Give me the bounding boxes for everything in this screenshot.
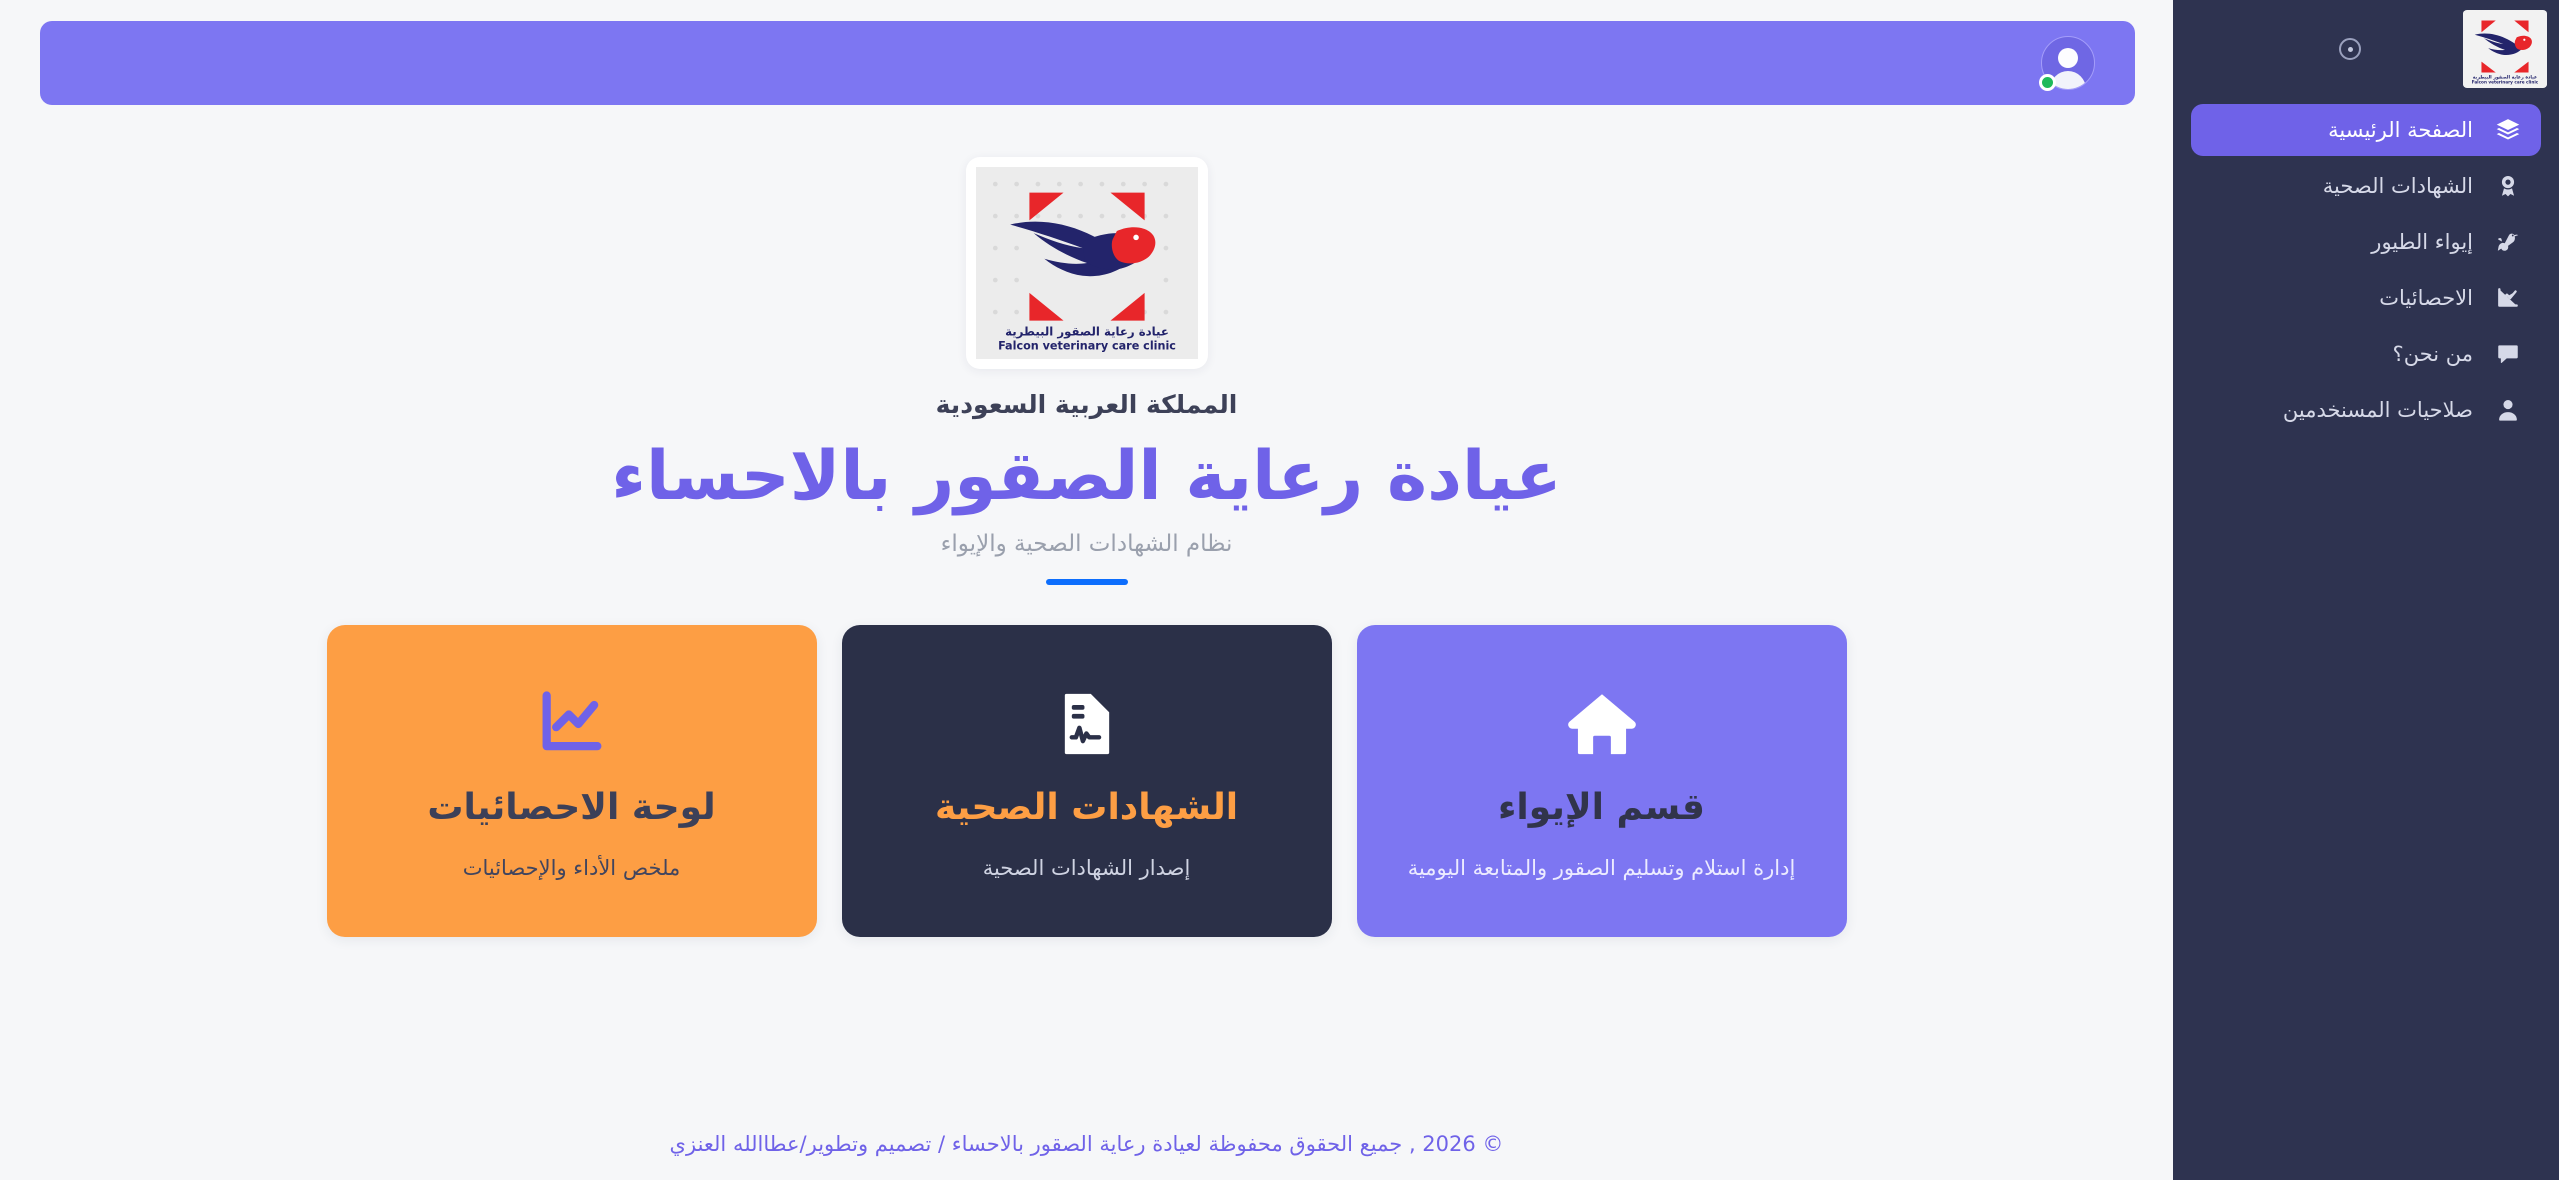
card-shelter-department[interactable]: قسم الإيواء إدارة استلام وتسليم الصقور و… (1357, 625, 1847, 937)
page-subtitle: نظام الشهادات الصحية والإيواء (941, 531, 1233, 557)
sidebar-item-label: صلاحيات المسنخدمين (2209, 398, 2477, 422)
hero-section: عيادة رعاية الصقور البيطرية Falcon veter… (0, 105, 2173, 1132)
card-subtitle: إدارة استلام وتسليم الصقور والمتابعة الي… (1408, 855, 1796, 882)
toggle-inner-dot (2348, 47, 2353, 52)
sidebar-item-label: من نحن؟ (2209, 342, 2477, 366)
award-medal-icon (2493, 171, 2523, 201)
home-house-icon (1564, 680, 1640, 768)
card-subtitle: إصدار الشهادات الصحية (983, 855, 1191, 882)
sidebar-nav: الصفحة الرئيسية الشهادات الصحية إيواء ال… (2173, 96, 2559, 436)
user-avatar-button[interactable] (2041, 36, 2095, 90)
card-health-certificates[interactable]: الشهادات الصحية إصدار الشهادات الصحية (842, 625, 1332, 937)
clinic-logo-card: عيادة رعاية الصقور البيطرية Falcon veter… (966, 157, 1208, 369)
sidebar-item-bird-shelter[interactable]: إيواء الطيور (2191, 216, 2541, 268)
footer-copyright-text: © 2026 , جميع الحقوق محفوظة لعيادة رعاية… (670, 1132, 1504, 1156)
card-statistics-dashboard[interactable]: لوحة الاحصائيات ملخص الأداء والإحصائيات (327, 625, 817, 937)
sidebar-item-label: إيواء الطيور (2209, 230, 2477, 254)
sidebar-item-label: الشهادات الصحية (2209, 174, 2477, 198)
card-title: قسم الإيواء (1498, 786, 1705, 829)
falcon-logo-icon: عيادة رعاية الصقور البيطرية Falcon veter… (976, 167, 1198, 359)
svg-text:Falcon veterinary care clinic: Falcon veterinary care clinic (998, 339, 1176, 352)
sidebar-item-user-permissions[interactable]: صلاحيات المسنخدمين (2191, 384, 2541, 436)
card-title: لوحة الاحصائيات (427, 786, 715, 829)
app-root: عيادة رعاية الصقور البيطرية Falcon veter… (0, 0, 2559, 1180)
footer: © 2026 , جميع الحقوق محفوظة لعيادة رعاية… (0, 1132, 2173, 1180)
chart-line-icon (2493, 283, 2523, 313)
sidebar-item-home[interactable]: الصفحة الرئيسية (2191, 104, 2541, 156)
quick-action-cards: لوحة الاحصائيات ملخص الأداء والإحصائيات (327, 625, 1847, 937)
top-bar (40, 21, 2135, 105)
circle-dot-toggle-icon[interactable] (2339, 38, 2361, 60)
sidebar-item-statistics[interactable]: الاحصائيات (2191, 272, 2541, 324)
user-person-icon (2493, 395, 2523, 425)
page-title: عيادة رعاية الصقور بالاحساء (611, 439, 1561, 515)
online-status-dot-icon (2039, 74, 2056, 91)
title-divider (1046, 579, 1128, 585)
country-label: المملكة العربية السعودية (936, 390, 1238, 419)
sidebar-item-health-certificates[interactable]: الشهادات الصحية (2191, 160, 2541, 212)
svg-text:Falcon veterinary care clinic: Falcon veterinary care clinic (2472, 79, 2539, 84)
sidebar: عيادة رعاية الصقور البيطرية Falcon veter… (2173, 0, 2559, 1180)
falcon-logo-icon: عيادة رعاية الصقور البيطرية Falcon veter… (2463, 10, 2547, 88)
sidebar-item-label: الصفحة الرئيسية (2209, 118, 2477, 142)
card-subtitle: ملخص الأداء والإحصائيات (463, 855, 681, 882)
avatar-head-shape (2058, 48, 2078, 68)
sidebar-item-label: الاحصائيات (2209, 286, 2477, 310)
main-content-area: عيادة رعاية الصقور البيطرية Falcon veter… (0, 0, 2173, 1180)
card-title: الشهادات الصحية (935, 786, 1238, 829)
dove-bird-icon (2493, 227, 2523, 257)
sidebar-header: عيادة رعاية الصقور البيطرية Falcon veter… (2173, 0, 2559, 96)
chart-line-icon (534, 680, 610, 768)
sidebar-item-about-us[interactable]: من نحن؟ (2191, 328, 2541, 380)
svg-text:عيادة رعاية الصقور البيطرية: عيادة رعاية الصقور البيطرية (1005, 325, 1169, 340)
chat-bubble-icon (2493, 339, 2523, 369)
layers-icon (2493, 115, 2523, 145)
certificate-document-icon (1049, 680, 1125, 768)
